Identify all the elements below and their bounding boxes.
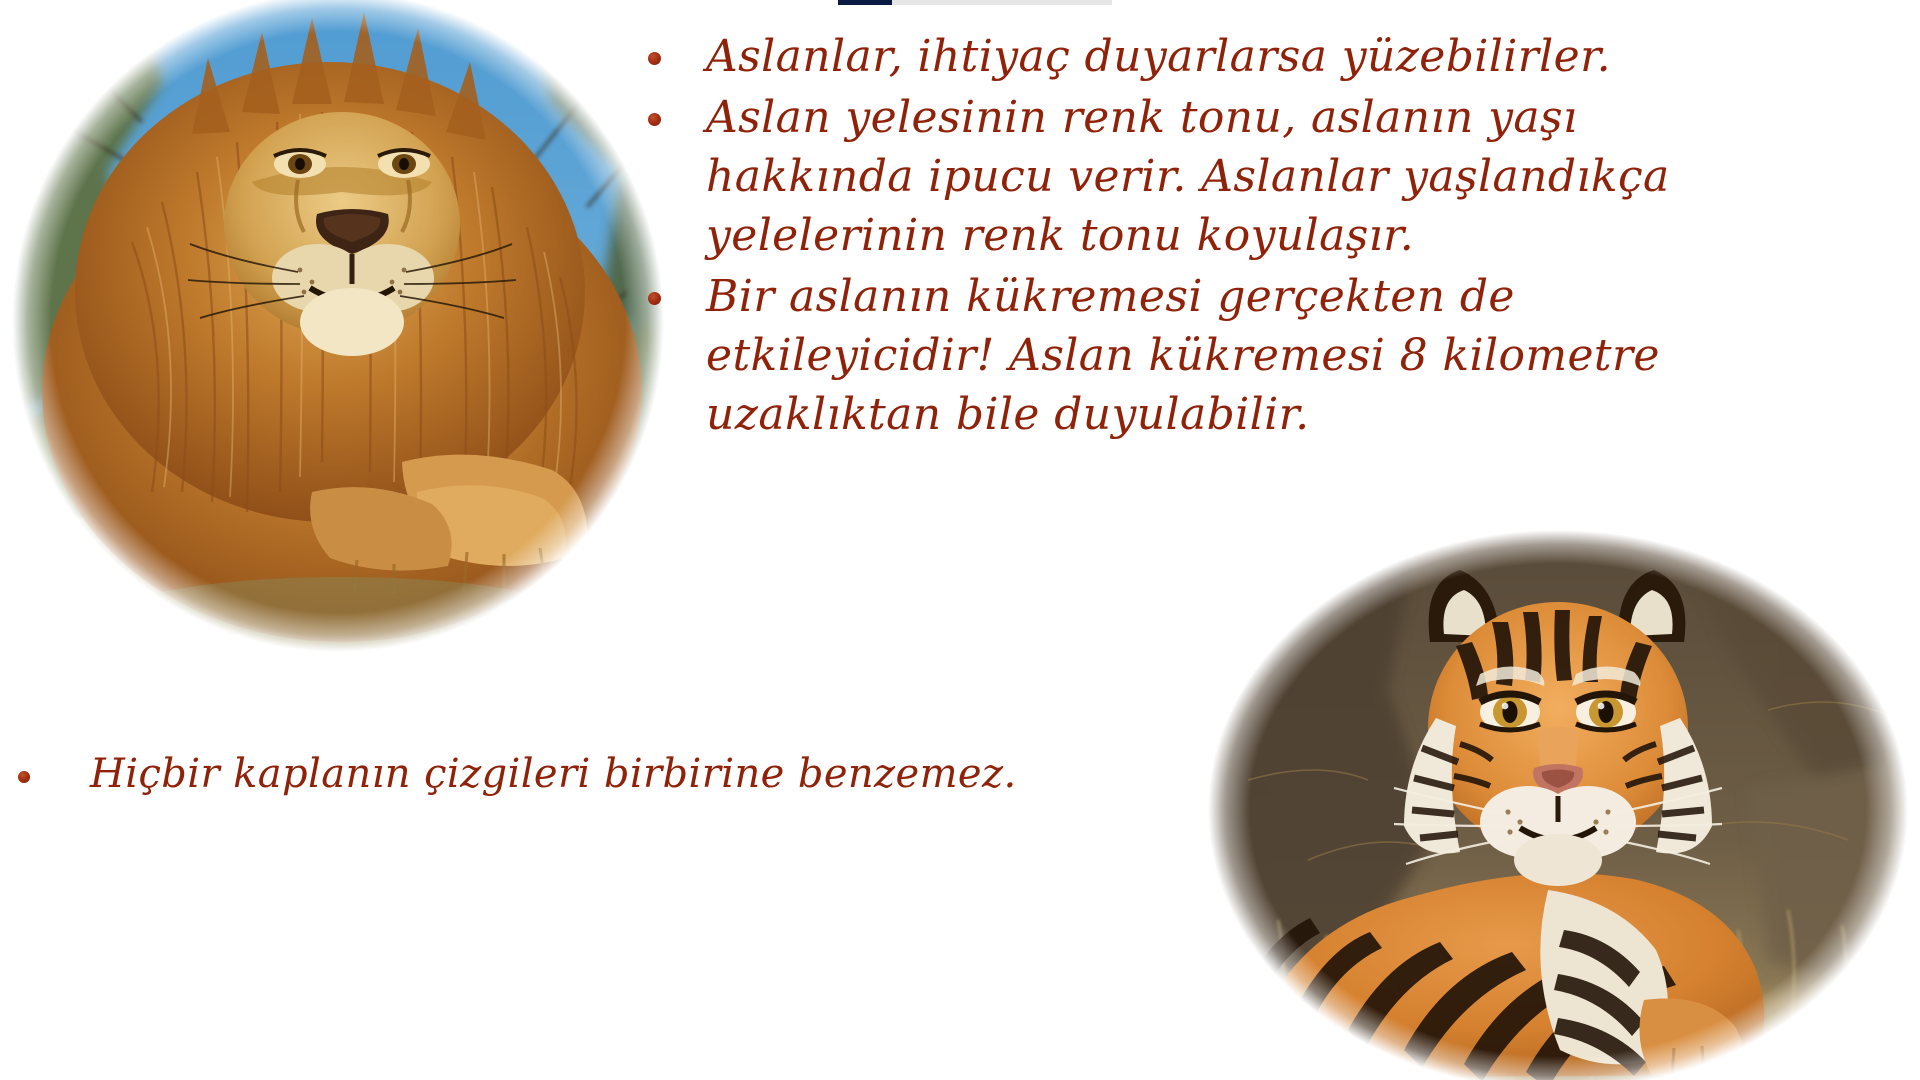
fact-list-lion: Aslanlar, ihtiyaç duyarlarsa yüzebilirle… <box>648 28 1858 447</box>
slide-canvas: Aslanlar, ihtiyaç duyarlarsa yüzebilirle… <box>0 0 1920 1080</box>
bullet-marker-icon <box>648 28 706 69</box>
lion-photo <box>12 0 664 652</box>
fact-list-tiger: Hiçbir kaplanın çizgileri birbirine benz… <box>18 748 1198 802</box>
progress-bar-track <box>838 0 1112 5</box>
list-item: Bir aslanın kükremesi gerçekten de etkil… <box>648 268 1858 445</box>
bullet-marker-icon <box>648 268 706 309</box>
list-item: Aslan yelesinin renk tonu, aslanın yaşı … <box>648 89 1858 266</box>
fact-text: Bir aslanın kükremesi gerçekten de etkil… <box>706 268 1858 445</box>
progress-bar-fill <box>838 0 892 5</box>
list-item: Hiçbir kaplanın çizgileri birbirine benz… <box>18 748 1198 800</box>
fact-text: Hiçbir kaplanın çizgileri birbirine benz… <box>90 748 1198 800</box>
tiger-photo <box>1208 530 1908 1080</box>
fact-text: Aslan yelesinin renk tonu, aslanın yaşı … <box>706 89 1858 266</box>
fact-text: Aslanlar, ihtiyaç duyarlarsa yüzebilirle… <box>706 28 1858 87</box>
bullet-marker-icon <box>648 89 706 130</box>
bullet-marker-icon <box>18 748 90 787</box>
list-item: Aslanlar, ihtiyaç duyarlarsa yüzebilirle… <box>648 28 1858 87</box>
